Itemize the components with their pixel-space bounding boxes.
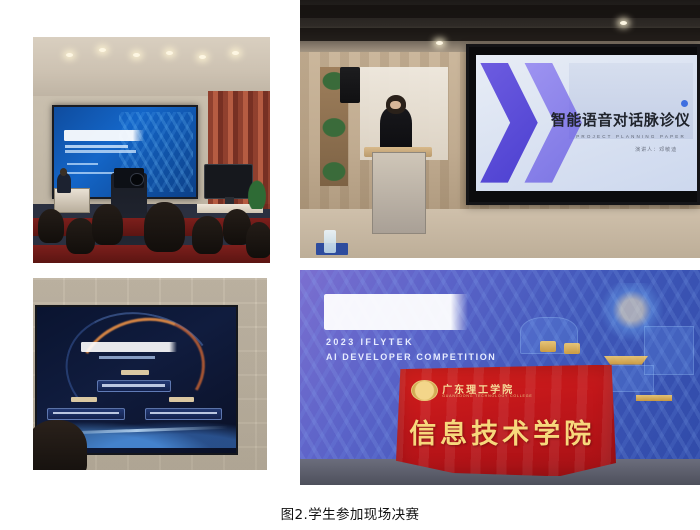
downlight-icon bbox=[133, 53, 140, 57]
screen-line2 bbox=[65, 150, 136, 153]
photo-conference-hall bbox=[33, 37, 270, 263]
ceiling-beam bbox=[300, 5, 700, 18]
camera-lens-icon bbox=[130, 173, 144, 186]
water-bottle bbox=[324, 230, 336, 253]
plant bbox=[246, 177, 267, 209]
backdrop-logo bbox=[324, 294, 468, 331]
audience-head bbox=[92, 204, 123, 245]
gold-accent bbox=[540, 341, 556, 352]
banner-department-name: 信息技术学院 bbox=[409, 412, 595, 451]
trophy-glow bbox=[596, 283, 668, 343]
chevron-graphic bbox=[480, 63, 538, 183]
school-seal-icon bbox=[411, 380, 437, 401]
slide-subtitle: PROJECT PLANNING PAPER bbox=[576, 134, 686, 139]
school-banner: 广东理工学院 GUANGDONG TECHNOLOGY COLLEGE 信息技术… bbox=[396, 365, 616, 477]
audience-head bbox=[144, 202, 184, 252]
wall-speaker bbox=[340, 67, 360, 103]
award-screen-subtitle bbox=[99, 356, 155, 359]
slide-presenter-line: 演讲人：邓敏迪 bbox=[635, 146, 677, 153]
plant bbox=[320, 160, 348, 181]
award-banner-text bbox=[53, 412, 120, 415]
rank-label-champion bbox=[121, 370, 149, 375]
photo-student-presentation: 智能语音对话脉诊仪 PROJECT PLANNING PAPER 演讲人：邓敏迪 bbox=[300, 0, 700, 258]
audience-head bbox=[192, 216, 223, 254]
downlight-icon bbox=[232, 51, 239, 55]
downlight-icon bbox=[166, 51, 173, 55]
award-banner bbox=[97, 380, 171, 392]
figure-caption: 图2.学生参加现场决赛 bbox=[0, 503, 700, 523]
rank-label-third bbox=[169, 397, 195, 402]
downlight-icon bbox=[620, 21, 627, 25]
screen-line4 bbox=[67, 172, 115, 174]
screen-line1 bbox=[65, 145, 128, 148]
rank-label-second bbox=[71, 397, 97, 402]
backdrop-line2: AI DEVELOPER COMPETITION bbox=[326, 352, 496, 362]
audience-head bbox=[66, 218, 94, 254]
lectern bbox=[372, 152, 426, 234]
gold-accent bbox=[604, 356, 648, 365]
ceiling-beam bbox=[300, 28, 700, 41]
gold-accent bbox=[636, 395, 672, 401]
screen-logo bbox=[64, 130, 144, 141]
figure-page: 智能语音对话脉诊仪 PROJECT PLANNING PAPER 演讲人：邓敏迪 bbox=[0, 0, 700, 530]
presentation-slide: 智能语音对话脉诊仪 PROJECT PLANNING PAPER 演讲人：邓敏迪 bbox=[476, 55, 697, 191]
projection-screen: 智能语音对话脉诊仪 PROJECT PLANNING PAPER 演讲人：邓敏迪 bbox=[466, 44, 700, 205]
floor bbox=[300, 209, 700, 258]
plant bbox=[320, 116, 348, 137]
audience-head bbox=[33, 420, 87, 470]
audience-head bbox=[246, 222, 270, 258]
slide-dot-icon bbox=[681, 100, 688, 107]
slide-title: 智能语音对话脉诊仪 bbox=[551, 109, 691, 130]
photo-team-with-banner: 2023 IFLYTEK AI DEVELOPER COMPETITION 广东… bbox=[300, 270, 700, 485]
audience-head bbox=[38, 209, 64, 243]
speaker-head bbox=[60, 168, 67, 176]
award-banner-text bbox=[150, 412, 217, 415]
award-screen-title bbox=[81, 342, 176, 352]
presenter-face bbox=[390, 101, 400, 110]
downlight-icon bbox=[66, 53, 73, 57]
screen-line3 bbox=[67, 163, 98, 165]
award-banner-text bbox=[102, 384, 165, 387]
backdrop-line1: 2023 IFLYTEK bbox=[326, 337, 414, 347]
gold-accent bbox=[564, 343, 580, 354]
banner-school-name-en: GUANGDONG TECHNOLOGY COLLEGE bbox=[442, 394, 532, 398]
downlight-icon bbox=[199, 55, 206, 59]
photo-award-screen bbox=[33, 278, 267, 470]
